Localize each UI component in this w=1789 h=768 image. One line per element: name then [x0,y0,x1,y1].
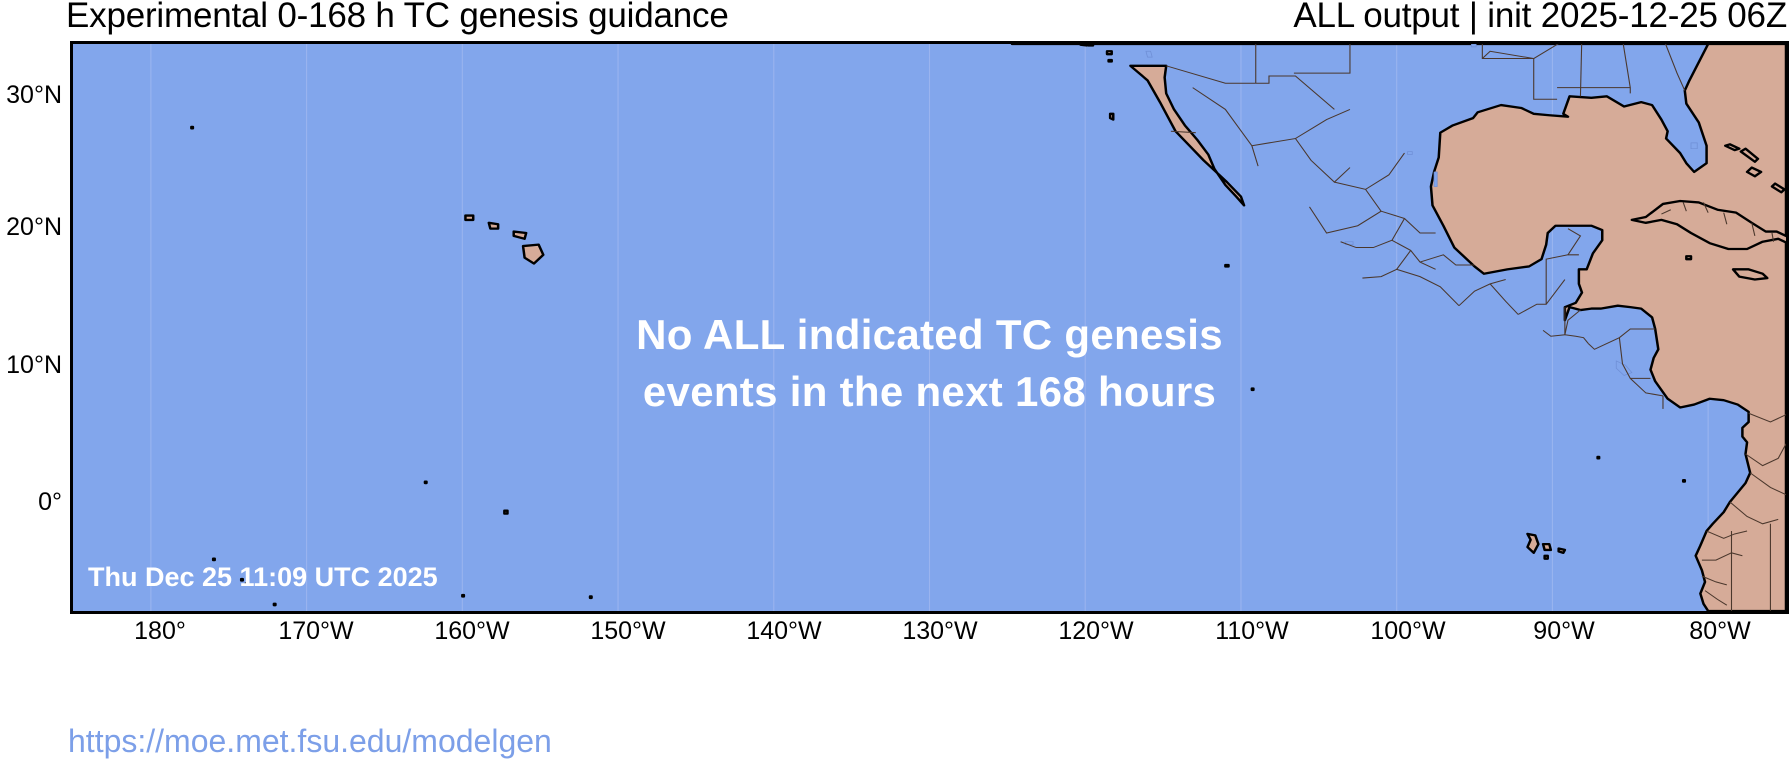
x-tick-label: 120°W [1026,617,1166,646]
galapagos-floreana-island [1545,556,1548,559]
guadalupe-island [1110,114,1113,120]
x-tick-label: 80°W [1650,617,1789,646]
socorro-island [1225,265,1228,266]
generation-timestamp: Thu Dec 25 11:09 UTC 2025 [88,562,438,593]
galapagos-isabela-island [1527,534,1538,553]
hawaii-maui-island [514,232,526,239]
geography-layer [73,44,1786,611]
x-tick-label: 90°W [1494,617,1634,646]
galapagos-santa-cruz-island [1543,544,1551,550]
salton-sea [1146,51,1152,57]
north-america-landmass [1012,44,1786,611]
y-tick-label: 10°N [0,351,62,380]
falcon-reservoir [1408,152,1413,155]
baja-california-peninsula [1130,66,1244,206]
cayman-islands [1686,256,1691,259]
y-tick-label: 30°N [0,81,62,110]
x-tick-label: 100°W [1338,617,1478,646]
x-tick-label: 180° [90,617,230,646]
output-init-label: ALL output | init 2025-12-25 06Z [1293,0,1787,36]
malpelo-island [1683,480,1685,481]
y-tick-label: 20°N [0,213,62,242]
x-tick-label: 170°W [246,617,386,646]
lake-nicaragua [1616,361,1632,376]
x-tick-label: 150°W [558,617,698,646]
page-title: Experimental 0-168 h TC genesis guidance [66,0,729,36]
landmasses [191,44,1786,611]
clipperton-island [1252,389,1254,390]
hawaii-kauai-island [465,216,473,220]
laguna-madre [1434,172,1437,187]
galapagos-san-cristobal-island [1559,548,1565,552]
cocos-island [1598,457,1600,458]
x-tick-label: 140°W [714,617,854,646]
hawaii-big-island [523,245,543,264]
genesis-guidance-figure: Experimental 0-168 h TC genesis guidance… [0,0,1789,768]
y-tick-label: 0° [0,488,62,517]
x-tick-label: 110°W [1182,617,1322,646]
x-tick-label: 130°W [870,617,1010,646]
pacific-atolls [191,127,591,605]
x-tick-label: 160°W [402,617,542,646]
source-url-link[interactable]: https://moe.met.fsu.edu/modelgen [68,723,552,760]
map-plot-area[interactable]: No ALL indicated TC genesis events in th… [70,41,1789,614]
hawaii-oahu-island [489,223,498,229]
lake-okeechobee [1691,143,1697,149]
lake-of-the-woods [1471,44,1476,47]
